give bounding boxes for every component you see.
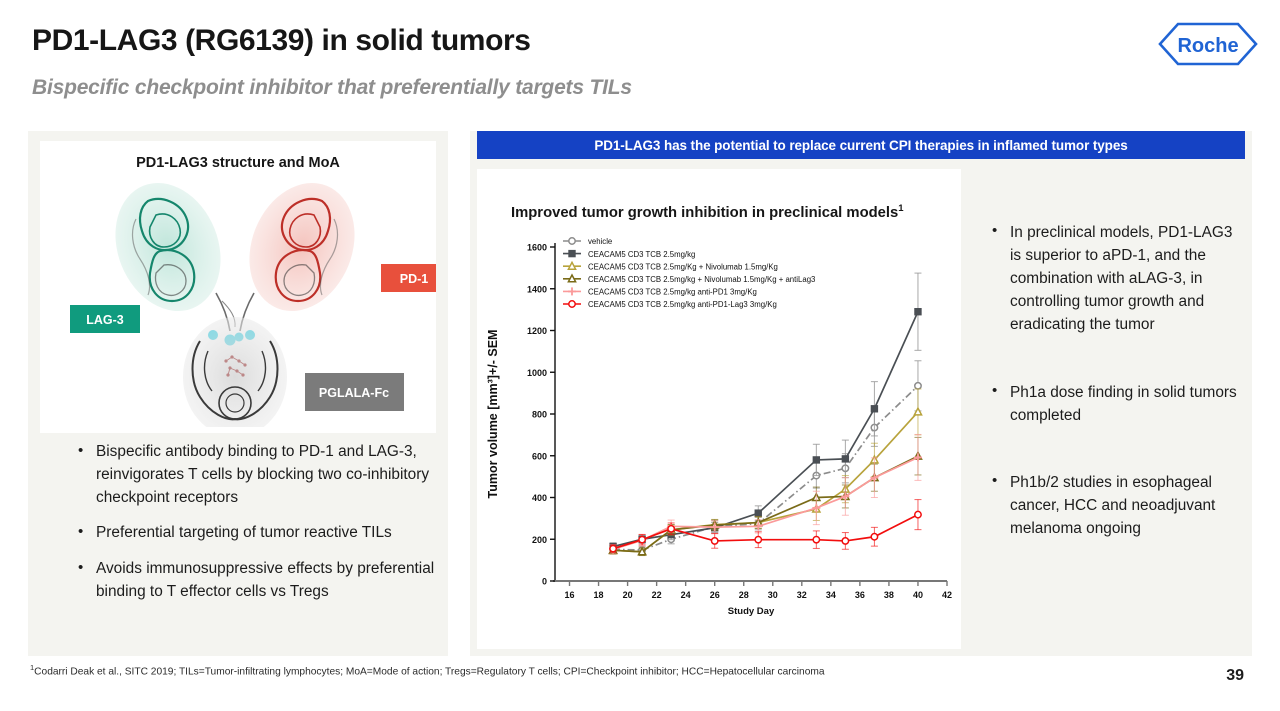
tumor-growth-plot: 0200400600800100012001400160016182022242… — [477, 229, 961, 641]
data-point-marker — [569, 250, 575, 256]
x-tick-label: 22 — [652, 590, 662, 600]
y-tick-label: 1400 — [527, 284, 547, 294]
legend-label: CEACAM5 CD3 TCB 2.5mg/Kg + Nivolumab 1.5… — [588, 262, 778, 271]
legend-item-3: CEACAM5 CD3 TCB 2.5mg/Kg + Nivolumab 1.5… — [563, 262, 778, 271]
x-tick-label: 20 — [623, 590, 633, 600]
x-tick-label: 30 — [768, 590, 778, 600]
data-point-marker — [915, 511, 921, 517]
chart-legend: vehicleCEACAM5 CD3 TCB 2.5mg/kgCEACAM5 C… — [563, 237, 815, 309]
x-tick-label: 40 — [913, 590, 923, 600]
list-item: Preferential targeting of tumor reactive… — [74, 522, 446, 545]
legend-item-1: vehicle — [563, 237, 612, 246]
data-point-marker — [668, 526, 674, 532]
data-point-marker — [639, 536, 645, 542]
right-panel: PD1-LAG3 has the potential to replace cu… — [470, 131, 1252, 656]
roche-logo: Roche — [1158, 22, 1258, 66]
antibody-structure-illustration: PD-1 LAG-3 PGLALA-Fc — [40, 175, 436, 427]
data-point-marker — [712, 538, 718, 544]
data-point-marker — [914, 408, 921, 415]
structure-card-title: PD1-LAG3 structure and MoA — [40, 155, 436, 171]
y-tick-label: 0 — [542, 577, 547, 587]
data-point-marker — [871, 406, 877, 412]
chart-card: Improved tumor growth inhibition in prec… — [477, 169, 961, 649]
page-title: PD1-LAG3 (RG6139) in solid tumors — [32, 24, 531, 58]
legend-item-2: CEACAM5 CD3 TCB 2.5mg/kg — [563, 250, 695, 259]
page-number: 39 — [1226, 667, 1244, 685]
roche-logo-icon: Roche — [1158, 22, 1258, 66]
y-tick-label: 200 — [532, 535, 547, 545]
pd1-arm-structure — [231, 175, 373, 327]
data-point-marker — [915, 383, 921, 389]
y-tick-label: 800 — [532, 410, 547, 420]
structure-card: PD1-LAG3 structure and MoA — [40, 141, 436, 433]
y-tick-label: 400 — [532, 493, 547, 503]
structure-tag-pd1: PD-1 — [381, 264, 436, 292]
structure-tag-lag3-label: LAG-3 — [86, 313, 124, 327]
legend-item-5: CEACAM5 CD3 TCB 2.5mg/kg anti-PD1 3mg/Kg — [563, 287, 757, 296]
x-tick-label: 32 — [797, 590, 807, 600]
x-tick-label: 36 — [855, 590, 865, 600]
legend-label: CEACAM5 CD3 TCB 2.5mg/kg anti-PD1-Lag3 3… — [588, 300, 777, 309]
data-point-marker — [842, 538, 848, 544]
x-tick-label: 38 — [884, 590, 894, 600]
footnote-text: Codarri Deak et al., SITC 2019; TILs=Tum… — [34, 666, 824, 677]
x-axis-label: Study Day — [728, 606, 775, 617]
data-point-marker — [813, 457, 819, 463]
y-tick-label: 1200 — [527, 326, 547, 336]
data-point-marker — [842, 456, 848, 462]
footnote: 1Codarri Deak et al., SITC 2019; TILs=Tu… — [30, 663, 1030, 677]
data-point-marker — [568, 262, 575, 269]
y-axis-label: Tumor volume [mm³]+/- SEM — [486, 330, 500, 499]
structure-tag-pd1-label: PD-1 — [400, 272, 429, 286]
x-tick-label: 34 — [826, 590, 836, 600]
legend-label: CEACAM5 CD3 TCB 2.5mg/kg anti-PD1 3mg/Kg — [588, 288, 757, 297]
list-item: In preclinical models, PD1-LAG3 is super… — [990, 221, 1242, 337]
x-tick-label: 26 — [710, 590, 720, 600]
structure-tag-lag3: LAG-3 — [70, 305, 140, 333]
legend-label: CEACAM5 CD3 TCB 2.5mg/kg — [588, 250, 695, 259]
structure-tag-fc-label: PGLALA-Fc — [319, 386, 389, 400]
series-line — [613, 412, 918, 552]
lag3-arm-structure — [97, 175, 239, 327]
y-tick-label: 600 — [532, 451, 547, 461]
tumor-growth-line-chart: 0200400600800100012001400160016182022242… — [477, 229, 961, 641]
legend-label: CEACAM5 CD3 TCB 2.5mg/kg + Nivolumab 1.5… — [588, 275, 815, 284]
x-tick-label: 42 — [942, 590, 952, 600]
data-point-marker — [569, 238, 575, 244]
chart-title-footnote-marker: 1 — [898, 203, 903, 214]
x-tick-label: 18 — [594, 590, 604, 600]
data-point-marker — [569, 301, 575, 307]
left-bullet-list: Bispecific antibody binding to PD-1 and … — [74, 441, 446, 617]
page-subtitle: Bispecific checkpoint inhibitor that pre… — [32, 76, 632, 100]
data-point-marker — [755, 510, 761, 516]
data-point-marker — [813, 536, 819, 542]
legend-item-4: CEACAM5 CD3 TCB 2.5mg/kg + Nivolumab 1.5… — [563, 275, 815, 284]
legend-label: vehicle — [588, 237, 612, 246]
x-tick-label: 28 — [739, 590, 749, 600]
x-tick-label: 24 — [681, 590, 691, 600]
data-point-marker — [755, 536, 761, 542]
data-point-marker — [871, 534, 877, 540]
section-banner: PD1-LAG3 has the potential to replace cu… — [477, 131, 1245, 159]
chart-title: Improved tumor growth inhibition in prec… — [511, 203, 904, 221]
structure-tag-fc: PGLALA-Fc — [305, 373, 404, 411]
data-point-marker — [915, 309, 921, 315]
left-panel: PD1-LAG3 structure and MoA — [28, 131, 448, 656]
right-bullet-list: In preclinical models, PD1-LAG3 is super… — [990, 221, 1242, 584]
roche-logo-text: Roche — [1177, 35, 1238, 57]
y-tick-label: 1000 — [527, 368, 547, 378]
y-tick-label: 1600 — [527, 243, 547, 253]
chart-title-text: Improved tumor growth inhibition in prec… — [511, 205, 898, 221]
data-point-marker — [610, 545, 616, 551]
x-tick-label: 16 — [565, 590, 575, 600]
data-point-marker — [568, 275, 575, 282]
list-item: Ph1b/2 studies in esophageal cancer, HCC… — [990, 471, 1242, 540]
list-item: Bispecific antibody binding to PD-1 and … — [74, 441, 446, 509]
list-item: Avoids immunosuppressive effects by pref… — [74, 558, 446, 604]
series-2 — [610, 273, 922, 550]
legend-item-6: CEACAM5 CD3 TCB 2.5mg/kg anti-PD1-Lag3 3… — [563, 300, 777, 309]
fc-domain-structure — [183, 317, 287, 427]
list-item: Ph1a dose finding in solid tumors comple… — [990, 381, 1242, 427]
